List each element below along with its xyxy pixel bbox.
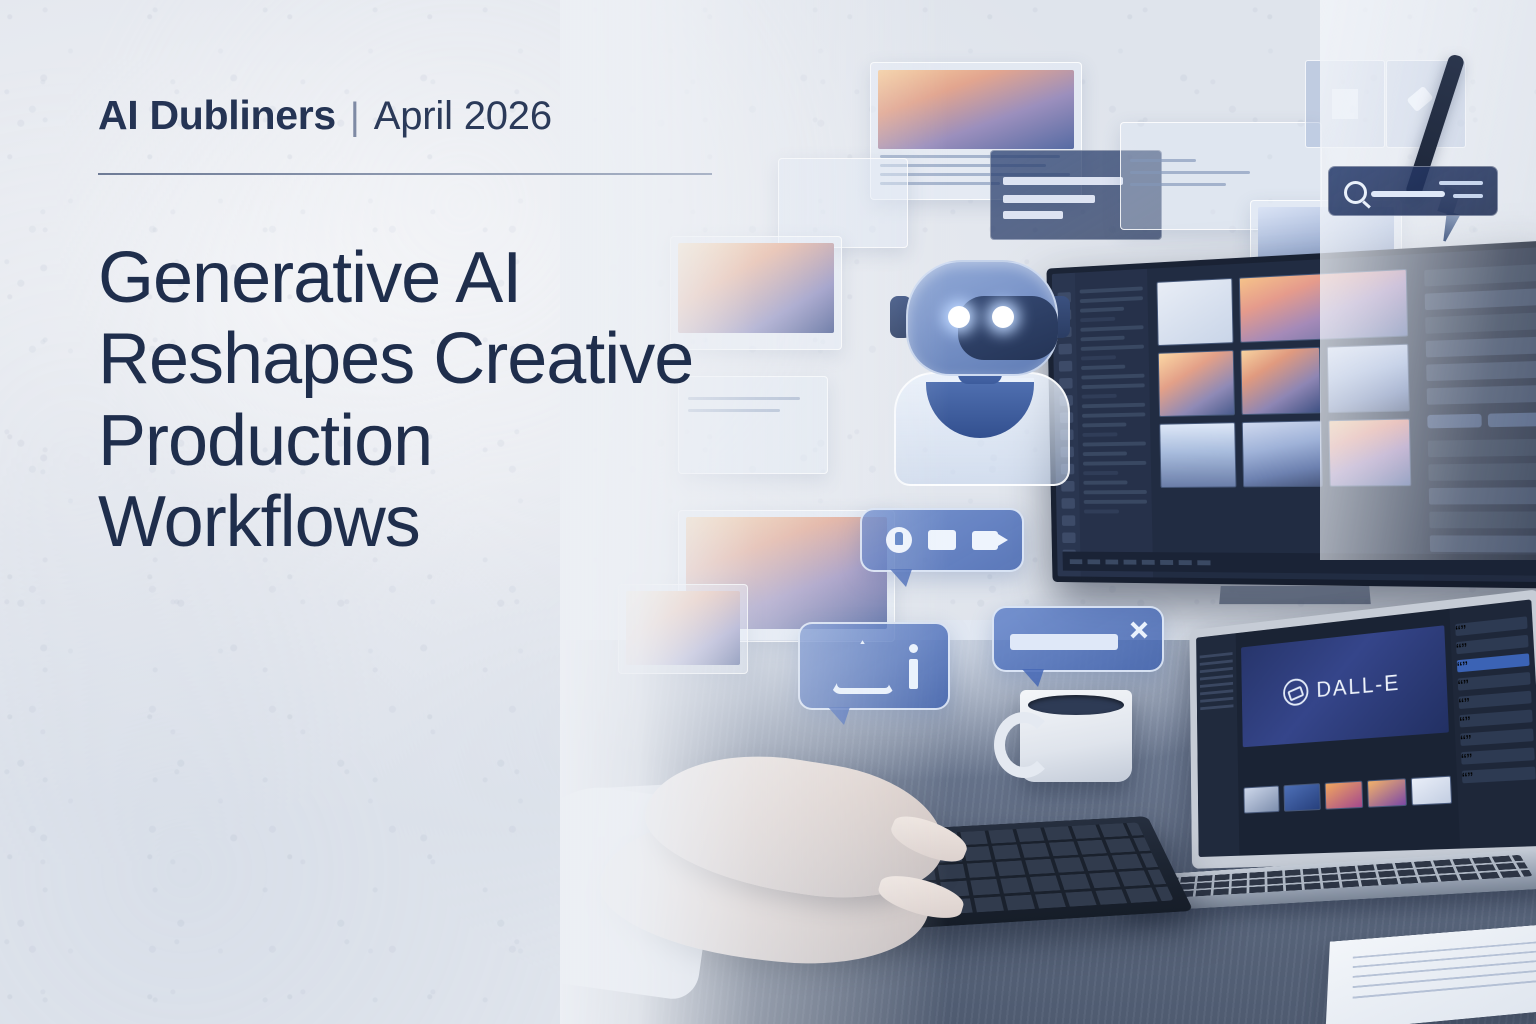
laptop-lid: DALL-E bbox=[1189, 589, 1536, 869]
robot-visor bbox=[958, 296, 1058, 360]
layer-row[interactable] bbox=[1080, 296, 1143, 303]
card-text-line bbox=[880, 155, 1060, 158]
paper-line bbox=[1353, 964, 1536, 988]
image-grid[interactable] bbox=[1147, 254, 1424, 581]
panel-row[interactable] bbox=[1200, 652, 1233, 658]
headline-line-3: Production bbox=[98, 401, 738, 482]
tool-icon[interactable] bbox=[1061, 498, 1074, 509]
panel-button[interactable] bbox=[1427, 414, 1481, 429]
filmstrip-thumb[interactable] bbox=[1243, 785, 1279, 813]
paper-stack bbox=[1326, 920, 1536, 1024]
card-text-line bbox=[1130, 183, 1226, 186]
layer-row[interactable] bbox=[1081, 345, 1144, 351]
monitor-status-bar[interactable] bbox=[1063, 552, 1536, 576]
hand-left bbox=[594, 803, 937, 977]
search-input[interactable] bbox=[1371, 191, 1445, 197]
panel-control[interactable] bbox=[1456, 635, 1529, 654]
panel-control[interactable] bbox=[1462, 767, 1536, 784]
hero-banner: DALL-E bbox=[0, 0, 1536, 1024]
statusbar-item[interactable] bbox=[1179, 560, 1192, 565]
layer-row[interactable] bbox=[1080, 317, 1115, 322]
monitor-screen bbox=[1052, 247, 1536, 582]
dalle-hero: DALL-E bbox=[1241, 625, 1449, 747]
filmstrip-thumb[interactable] bbox=[1325, 781, 1364, 810]
search-icon bbox=[1344, 181, 1367, 204]
layer-row[interactable] bbox=[1083, 471, 1118, 475]
laptop: DALL-E bbox=[1189, 589, 1536, 869]
panel-control[interactable] bbox=[1458, 691, 1531, 709]
video-icon bbox=[972, 531, 998, 550]
finger bbox=[886, 809, 971, 870]
robot-body bbox=[894, 372, 1070, 486]
tool-icon[interactable] bbox=[1057, 309, 1070, 320]
paper-line bbox=[1353, 937, 1536, 959]
ai-triangle-glyph bbox=[831, 638, 895, 694]
search-meta-line2 bbox=[1453, 194, 1483, 198]
mug-handle bbox=[994, 712, 1054, 778]
panel-row[interactable] bbox=[1200, 660, 1233, 666]
panel-control[interactable] bbox=[1460, 728, 1534, 746]
floating-card-blank-a bbox=[778, 158, 908, 248]
grid-thumbnail[interactable] bbox=[1326, 344, 1409, 413]
ai-bubble bbox=[798, 622, 950, 710]
layer-row[interactable] bbox=[1082, 412, 1145, 417]
layer-row[interactable] bbox=[1083, 452, 1127, 457]
search-meta-line bbox=[1439, 181, 1483, 185]
headline-line-4: Workflows bbox=[98, 482, 738, 563]
paper-line bbox=[1353, 955, 1536, 978]
laptop-screen: DALL-E bbox=[1196, 599, 1536, 857]
tool-tile-document[interactable] bbox=[1305, 60, 1385, 148]
laptop-main-area: DALL-E bbox=[1236, 609, 1461, 856]
floating-card-dark bbox=[990, 150, 1162, 240]
layer-row[interactable] bbox=[1083, 442, 1146, 447]
layer-row[interactable] bbox=[1080, 307, 1124, 313]
masthead: AI Dubliners | April 2026 bbox=[98, 92, 552, 139]
laptop-base bbox=[1126, 849, 1536, 912]
grid-thumbnail-panel[interactable] bbox=[1156, 278, 1233, 346]
layer-row[interactable] bbox=[1083, 461, 1146, 466]
panel-button[interactable] bbox=[1488, 412, 1536, 427]
statusbar-item[interactable] bbox=[1070, 559, 1083, 564]
floating-card-article bbox=[870, 62, 1082, 200]
property-field[interactable] bbox=[1426, 361, 1536, 381]
coffee-mug bbox=[1020, 690, 1132, 782]
robot-neck bbox=[958, 354, 1002, 384]
layer-row[interactable] bbox=[1080, 325, 1143, 332]
media-bubble bbox=[860, 508, 1024, 572]
statusbar-item[interactable] bbox=[1124, 559, 1137, 564]
ai-i-glyph bbox=[909, 644, 918, 689]
property-field[interactable] bbox=[1426, 337, 1536, 358]
layers-panel[interactable] bbox=[1075, 269, 1153, 578]
grid-thumbnail-hero[interactable] bbox=[1239, 269, 1408, 343]
panel-row[interactable] bbox=[1200, 674, 1233, 680]
panel-control[interactable] bbox=[1455, 616, 1527, 636]
card-text-line bbox=[1130, 171, 1250, 174]
property-field[interactable] bbox=[1430, 535, 1536, 552]
property-field[interactable] bbox=[1429, 487, 1536, 504]
headline-line-1: Generative AI bbox=[98, 238, 738, 319]
tool-icon[interactable] bbox=[1062, 550, 1075, 561]
floating-card-sunset-small bbox=[618, 584, 748, 674]
text-field-icon bbox=[1010, 634, 1118, 650]
floating-search-bar[interactable] bbox=[1328, 166, 1498, 216]
close-x-icon bbox=[1129, 620, 1149, 640]
grid-thumbnail[interactable] bbox=[1158, 350, 1235, 417]
robot-ear-right bbox=[1048, 296, 1070, 338]
statusbar-item[interactable] bbox=[1088, 559, 1101, 564]
property-row[interactable] bbox=[1429, 511, 1536, 528]
issue-date: April 2026 bbox=[374, 94, 552, 139]
finger bbox=[875, 869, 967, 925]
desktop-monitor bbox=[1046, 240, 1536, 588]
card-line bbox=[1003, 211, 1063, 219]
panel-row[interactable] bbox=[1200, 704, 1233, 710]
tool-icon[interactable] bbox=[1059, 395, 1072, 406]
laptop-keyboard[interactable] bbox=[1143, 855, 1532, 900]
brand-name: AI Dubliners bbox=[98, 92, 336, 139]
layer-row[interactable] bbox=[1084, 490, 1147, 494]
paper-line bbox=[1353, 946, 1536, 968]
layer-row[interactable] bbox=[1081, 365, 1125, 370]
statusbar-item[interactable] bbox=[1197, 560, 1210, 565]
dalle-logo-icon bbox=[1283, 678, 1309, 707]
paper-line bbox=[1353, 974, 1536, 999]
layer-row[interactable] bbox=[1081, 374, 1144, 380]
panel-control-selected[interactable] bbox=[1457, 653, 1530, 672]
desk-woodgrain bbox=[560, 640, 1536, 1024]
property-field[interactable] bbox=[1427, 385, 1536, 405]
robot-head bbox=[906, 260, 1058, 376]
input-bubble bbox=[992, 606, 1164, 672]
grid-thumbnail[interactable] bbox=[1159, 422, 1236, 488]
tool-icon[interactable] bbox=[1059, 378, 1072, 389]
toolbar-rail[interactable] bbox=[1052, 273, 1081, 577]
panel-row[interactable] bbox=[1200, 689, 1233, 695]
external-keyboard[interactable] bbox=[639, 816, 1194, 945]
robot-eye-right bbox=[992, 306, 1014, 328]
card-text-line bbox=[1130, 159, 1196, 162]
layer-row[interactable] bbox=[1081, 336, 1125, 342]
card-thumbnail bbox=[626, 591, 740, 665]
property-field[interactable] bbox=[1425, 288, 1536, 310]
paper-sheet-back bbox=[598, 777, 829, 837]
layer-row[interactable] bbox=[1082, 423, 1126, 428]
layer-row[interactable] bbox=[1081, 383, 1144, 389]
property-row[interactable] bbox=[1424, 264, 1536, 286]
card-text-line bbox=[880, 164, 1046, 167]
desk-surface bbox=[560, 640, 1536, 1024]
grid-thumbnail[interactable] bbox=[1241, 347, 1321, 415]
property-buttons[interactable] bbox=[1427, 412, 1536, 428]
tool-icon[interactable] bbox=[1061, 515, 1074, 526]
filmstrip-thumb[interactable] bbox=[1367, 778, 1407, 807]
card-line bbox=[1003, 177, 1123, 185]
layer-row[interactable] bbox=[1084, 510, 1119, 514]
panel-row[interactable] bbox=[1200, 682, 1233, 688]
monitor-stand bbox=[1219, 586, 1371, 604]
property-row[interactable] bbox=[1428, 439, 1536, 457]
tool-icon[interactable] bbox=[1060, 464, 1073, 475]
tool-icon[interactable] bbox=[1060, 447, 1073, 458]
shirt-sleeve bbox=[560, 778, 723, 1002]
panel-control[interactable] bbox=[1458, 672, 1531, 691]
illustrator-ai-icon bbox=[800, 624, 948, 708]
layer-row[interactable] bbox=[1080, 286, 1143, 293]
tool-icon[interactable] bbox=[1058, 361, 1071, 372]
layer-row[interactable] bbox=[1084, 500, 1147, 504]
image-icon bbox=[928, 530, 956, 550]
property-row[interactable] bbox=[1425, 312, 1536, 333]
properties-panel[interactable] bbox=[1417, 247, 1536, 582]
robot-collar bbox=[926, 378, 1034, 438]
tool-icon[interactable] bbox=[1059, 412, 1072, 423]
cursor-icon bbox=[886, 527, 912, 553]
card-text-line bbox=[880, 182, 1000, 185]
tool-icon[interactable] bbox=[1058, 326, 1071, 337]
document-icon bbox=[1332, 89, 1358, 119]
card-line bbox=[1003, 195, 1095, 203]
robot-mascot bbox=[880, 250, 1080, 480]
layer-row[interactable] bbox=[1082, 394, 1117, 399]
panel-control[interactable] bbox=[1461, 747, 1535, 764]
layer-row[interactable] bbox=[1082, 432, 1117, 437]
statusbar-item[interactable] bbox=[1105, 559, 1118, 564]
card-thumbnail bbox=[1258, 207, 1394, 289]
tool-icon[interactable] bbox=[1060, 429, 1073, 440]
robot-eye-left bbox=[948, 306, 970, 328]
property-row[interactable] bbox=[1428, 463, 1536, 481]
tool-icon[interactable] bbox=[1061, 481, 1074, 492]
card-thumbnail bbox=[878, 70, 1074, 149]
brush-icon bbox=[1406, 86, 1433, 112]
laptop-filmstrip[interactable] bbox=[1243, 776, 1452, 814]
panel-control[interactable] bbox=[1459, 710, 1532, 728]
grid-thumbnail[interactable] bbox=[1242, 420, 1322, 487]
dalle-wordmark: DALL-E bbox=[1316, 670, 1401, 703]
floating-card-wide bbox=[1120, 122, 1322, 230]
laptop-left-panel[interactable] bbox=[1196, 633, 1239, 857]
filmstrip-thumb[interactable] bbox=[1411, 776, 1452, 806]
masthead-separator: | bbox=[350, 96, 360, 139]
laptop-right-panel[interactable] bbox=[1449, 599, 1536, 848]
headline-line-2: Reshapes Creative bbox=[98, 319, 738, 400]
layer-row[interactable] bbox=[1083, 480, 1127, 484]
panel-row[interactable] bbox=[1200, 697, 1233, 703]
hand-right bbox=[637, 737, 954, 914]
tool-icon[interactable] bbox=[1057, 292, 1070, 303]
robot-ear-left bbox=[890, 296, 912, 338]
layer-row[interactable] bbox=[1082, 403, 1145, 408]
left-fade-overlay bbox=[1320, 0, 1536, 560]
panel-row[interactable] bbox=[1200, 667, 1233, 673]
desk-highlight bbox=[560, 620, 1536, 820]
layer-row[interactable] bbox=[1081, 355, 1116, 360]
page-title: Generative AI Reshapes Creative Producti… bbox=[98, 238, 738, 563]
statusbar-item[interactable] bbox=[1160, 559, 1173, 564]
statusbar-item[interactable] bbox=[1142, 559, 1155, 564]
masthead-divider bbox=[98, 173, 712, 175]
tool-icon[interactable] bbox=[1062, 533, 1075, 544]
card-text-line bbox=[880, 173, 1070, 176]
tool-icon[interactable] bbox=[1058, 344, 1071, 355]
grid-thumbnail[interactable] bbox=[1328, 418, 1411, 486]
filmstrip-thumb[interactable] bbox=[1283, 783, 1320, 812]
